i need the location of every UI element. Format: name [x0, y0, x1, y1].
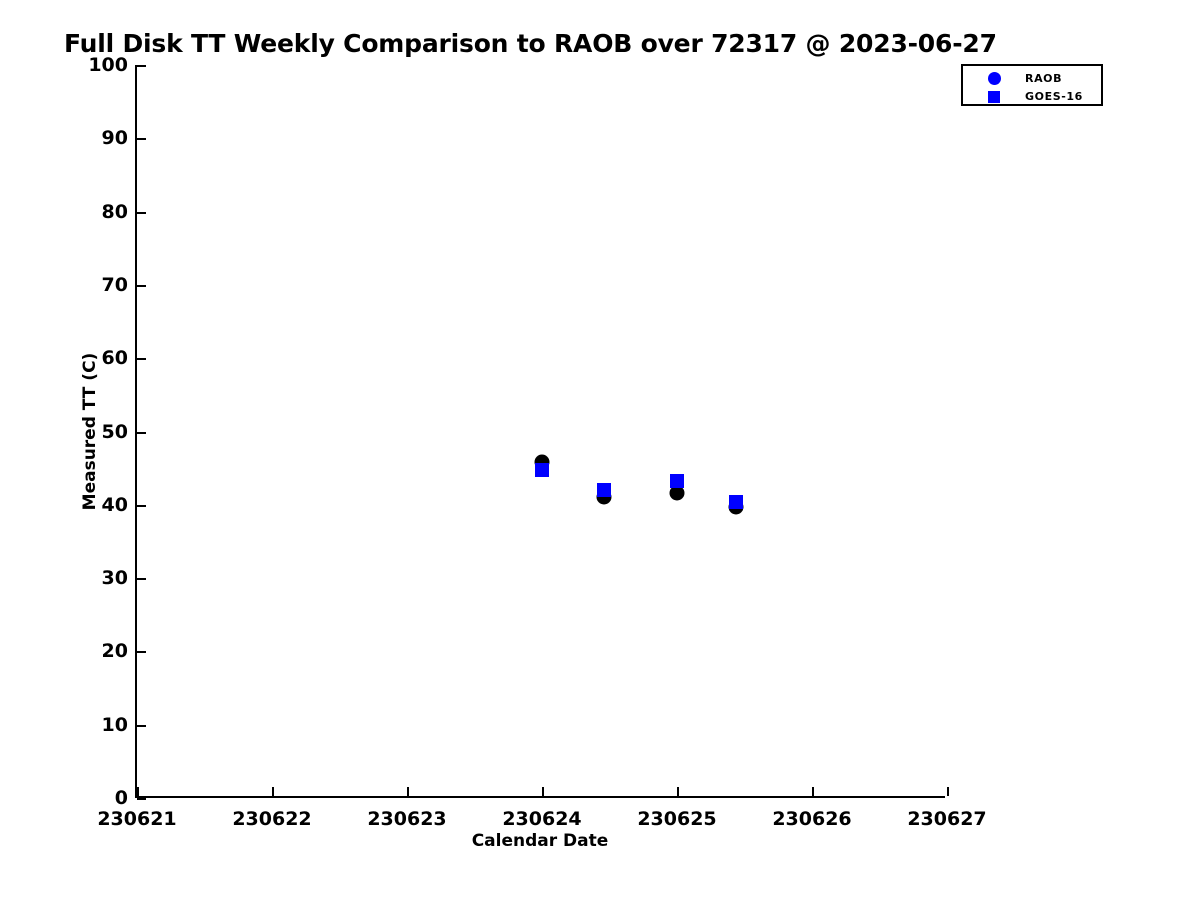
- x-tick-label: 230621: [97, 808, 176, 830]
- legend-marker-cell: [963, 91, 1025, 103]
- y-tick-mark: [137, 65, 146, 67]
- x-tick-mark: [272, 787, 274, 796]
- y-tick-label: 50: [102, 421, 128, 443]
- x-tick-mark: [677, 787, 679, 796]
- y-tick-mark: [137, 798, 146, 800]
- legend-label: GOES-16: [1025, 90, 1083, 103]
- y-tick-mark: [137, 138, 146, 140]
- y-tick-mark: [137, 358, 146, 360]
- data-point-goes-16: [535, 463, 549, 477]
- y-tick-label: 40: [102, 494, 128, 516]
- legend-entry-raob[interactable]: RAOB: [963, 69, 1101, 88]
- plot-area: 0102030405060708090100 23062123062223062…: [135, 65, 945, 798]
- y-axis-label: Measured TT (C): [78, 65, 102, 798]
- data-point-goes-16: [597, 483, 611, 497]
- y-tick-label: 80: [102, 201, 128, 223]
- data-point-raob: [670, 486, 685, 501]
- legend-marker-cell: [963, 72, 1025, 85]
- y-tick-label: 10: [102, 714, 128, 736]
- x-tick-mark: [542, 787, 544, 796]
- chart-figure: Full Disk TT Weekly Comparison to RAOB o…: [0, 0, 1200, 900]
- data-point-goes-16: [670, 474, 684, 488]
- y-tick-mark: [137, 432, 146, 434]
- x-tick-mark: [407, 787, 409, 796]
- y-tick-label: 30: [102, 567, 128, 589]
- x-tick-label: 230624: [502, 808, 581, 830]
- y-tick-label: 60: [102, 347, 128, 369]
- y-tick-mark: [137, 578, 146, 580]
- x-axis-label: Calendar Date: [135, 831, 945, 851]
- x-tick-mark: [812, 787, 814, 796]
- y-tick-mark: [137, 505, 146, 507]
- y-tick-label: 20: [102, 640, 128, 662]
- x-tick-label: 230626: [772, 808, 851, 830]
- x-tick-label: 230623: [367, 808, 446, 830]
- data-point-goes-16: [729, 495, 743, 509]
- y-tick-mark: [137, 725, 146, 727]
- legend-entry-goes-16[interactable]: GOES-16: [963, 87, 1101, 106]
- x-tick-label: 230627: [907, 808, 986, 830]
- y-tick-label: 90: [102, 127, 128, 149]
- chart-title: Full Disk TT Weekly Comparison to RAOB o…: [64, 29, 997, 58]
- y-tick-mark: [137, 212, 146, 214]
- legend-circle-icon: [988, 72, 1001, 85]
- y-tick-label: 0: [115, 787, 128, 809]
- y-tick-mark: [137, 651, 146, 653]
- y-tick-mark: [137, 285, 146, 287]
- x-tick-mark: [947, 787, 949, 796]
- chart-legend: RAOBGOES-16: [961, 64, 1103, 106]
- x-tick-label: 230622: [232, 808, 311, 830]
- legend-square-icon: [988, 91, 1000, 103]
- x-tick-label: 230625: [637, 808, 716, 830]
- x-tick-mark: [137, 787, 139, 796]
- y-tick-label: 70: [102, 274, 128, 296]
- legend-label: RAOB: [1025, 72, 1062, 85]
